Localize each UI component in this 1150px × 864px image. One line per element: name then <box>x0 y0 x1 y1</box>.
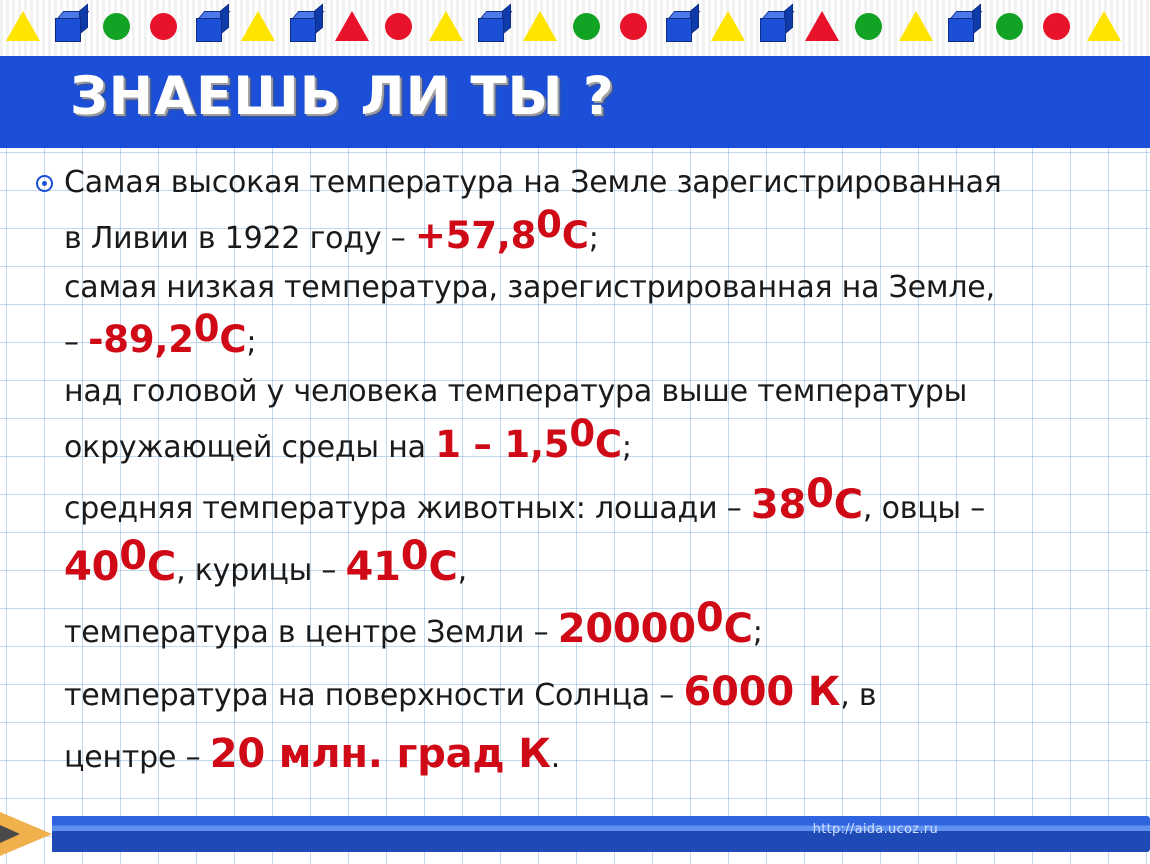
value-earth-min-degree: 0 <box>194 307 220 350</box>
value-head-diff: 1 – 1,5 <box>435 423 569 466</box>
text-line-11-end: . <box>551 740 560 775</box>
shapes-row <box>6 2 1150 48</box>
pencil-body <box>52 816 1150 852</box>
triangle-yellow-icon <box>523 5 559 45</box>
triangle-red-icon <box>805 5 841 45</box>
value-sheep-unit: C <box>147 544 176 590</box>
triangle-red-icon <box>335 5 371 45</box>
value-earth-core: 20000 <box>558 606 696 652</box>
text-line-3: самая низкая температура, зарегистрирова… <box>64 270 995 305</box>
cube-blue-icon <box>194 5 230 45</box>
text-line-2: в Ливии в 1922 году – <box>64 221 415 256</box>
cube-blue-icon <box>288 5 324 45</box>
pencil-lead-icon <box>0 825 20 843</box>
value-chicken-degree: 0 <box>401 533 429 579</box>
triangle-yellow-icon <box>429 5 465 45</box>
triangle-yellow-icon <box>6 5 42 45</box>
value-horse: 38 <box>751 482 806 528</box>
value-horse-unit: C <box>834 482 863 528</box>
cube-blue-icon <box>476 5 512 45</box>
text-line-10: температура на поверхности Солнца – <box>64 678 683 713</box>
value-head-diff-unit: C <box>595 423 622 466</box>
circle-green-icon <box>993 5 1029 45</box>
text-line-1: Самая высокая температура на Земле зарег… <box>64 165 1002 200</box>
circle-red-icon <box>617 5 653 45</box>
value-chicken: 41 <box>346 544 401 590</box>
text-line-2-end: ; <box>589 221 599 256</box>
circle-green-icon <box>852 5 888 45</box>
text-line-4-end: ; <box>246 325 256 360</box>
slide: ЗНАЕШЬ ЛИ ТЫ ? Самая высокая температура… <box>0 0 1150 864</box>
text-line-9: температура в центре Земли – <box>64 615 558 650</box>
value-sheep-degree: 0 <box>119 533 147 579</box>
cube-blue-icon <box>946 5 982 45</box>
circle-green-icon <box>100 5 136 45</box>
text-line-8-end: , <box>458 553 467 588</box>
triangle-yellow-icon <box>711 5 747 45</box>
cube-blue-icon <box>53 5 89 45</box>
footer-url: http://aida.ucoz.ru <box>813 822 938 837</box>
value-head-diff-degree: 0 <box>569 412 595 455</box>
value-sun-surface: 6000 К <box>683 669 840 715</box>
circle-red-icon <box>1040 5 1076 45</box>
text-line-7: средняя температура животных: лошади – <box>64 491 751 526</box>
text-line-6-end: ; <box>622 430 632 465</box>
value-chicken-unit: C <box>428 544 457 590</box>
value-earth-min: -89,2 <box>88 318 194 361</box>
value-sheep: 40 <box>64 544 119 590</box>
text-line-9-end: ; <box>753 615 763 650</box>
pencil-decoration: http://aida.ucoz.ru <box>0 812 1150 856</box>
triangle-yellow-icon <box>1087 5 1123 45</box>
circle-green-icon <box>570 5 606 45</box>
value-libya-max: +57,8 <box>415 214 536 257</box>
text-line-4: – <box>64 325 88 360</box>
value-sun-core: 20 млн. град К <box>210 731 551 777</box>
cube-blue-icon <box>758 5 794 45</box>
value-libya-max-degree: 0 <box>536 203 562 246</box>
value-libya-max-unit: C <box>562 214 589 257</box>
bullet-circle-icon <box>36 175 53 192</box>
decorative-top-border <box>0 0 1150 59</box>
value-earth-core-unit: C <box>724 606 753 652</box>
triangle-yellow-icon <box>241 5 277 45</box>
text-line-11: центре – <box>64 740 210 775</box>
fact-paragraph: Самая высокая температура на Земле зарег… <box>18 160 1138 786</box>
text-line-10-end: , в <box>840 678 876 713</box>
circle-red-icon <box>147 5 183 45</box>
page-title: ЗНАЕШЬ ЛИ ТЫ ? <box>70 66 615 127</box>
text-line-8: , курицы – <box>176 553 345 588</box>
text-line-7-end: , овцы – <box>863 491 985 526</box>
text-line-5: над головой у человека температура выше … <box>64 374 967 409</box>
content-block: Самая высокая температура на Земле зарег… <box>18 160 1138 786</box>
value-earth-min-unit: C <box>219 318 246 361</box>
value-horse-degree: 0 <box>806 471 834 517</box>
value-earth-core-degree: 0 <box>696 595 724 641</box>
cube-blue-icon <box>664 5 700 45</box>
text-line-6: окружающей среды на <box>64 430 435 465</box>
triangle-yellow-icon <box>899 5 935 45</box>
circle-red-icon <box>382 5 418 45</box>
